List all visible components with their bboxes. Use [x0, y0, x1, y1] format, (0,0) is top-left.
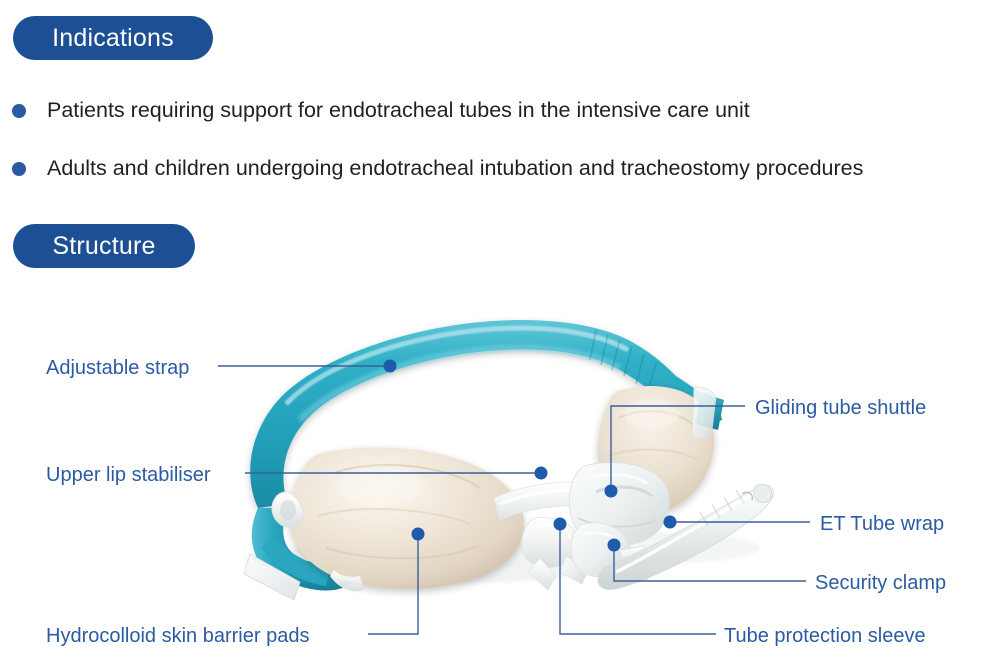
indication-text: Patients requiring support for endotrach… — [47, 98, 750, 124]
indications-section-badge: Indications — [13, 16, 213, 60]
callout-label-upper-lip-stabiliser: Upper lip stabiliser — [46, 465, 211, 485]
product-info-page: Indications Patients requiring support f… — [0, 0, 1000, 671]
dot-security-clamp — [608, 539, 621, 552]
dot-upper-lip-stabiliser — [535, 467, 548, 480]
product-photo — [244, 320, 774, 600]
dot-et-tube-wrap — [664, 516, 677, 529]
indications-bullet-list: Patients requiring support for endotrach… — [0, 82, 1000, 198]
structure-diagram: Adjustable strap Upper lip stabiliser Gl… — [0, 280, 1000, 671]
dot-adjustable-strap — [384, 360, 397, 373]
callout-label-adjustable-strap: Adjustable strap — [46, 358, 189, 378]
bullet-dot-icon — [12, 104, 26, 118]
indication-text: Adults and children undergoing endotrach… — [47, 156, 863, 182]
bullet-dot-icon — [12, 162, 26, 176]
dot-hydrocolloid-pads — [412, 528, 425, 541]
callout-label-tube-protection-sleeve: Tube protection sleeve — [724, 626, 926, 646]
hydrocolloid-pad-left — [289, 447, 524, 589]
callout-label-gliding-tube-shuttle: Gliding tube shuttle — [755, 398, 926, 418]
dot-gliding-tube-shuttle — [605, 485, 618, 498]
callout-label-hydrocolloid-pads: Hydrocolloid skin barrier pads — [46, 626, 309, 646]
callout-label-security-clamp: Security clamp — [815, 573, 946, 593]
dot-tube-protection-sleeve — [554, 518, 567, 531]
list-item: Patients requiring support for endotrach… — [0, 82, 1000, 140]
callout-label-et-tube-wrap: ET Tube wrap — [820, 514, 944, 534]
list-item: Adults and children undergoing endotrach… — [0, 140, 1000, 198]
structure-section-badge: Structure — [13, 224, 195, 268]
